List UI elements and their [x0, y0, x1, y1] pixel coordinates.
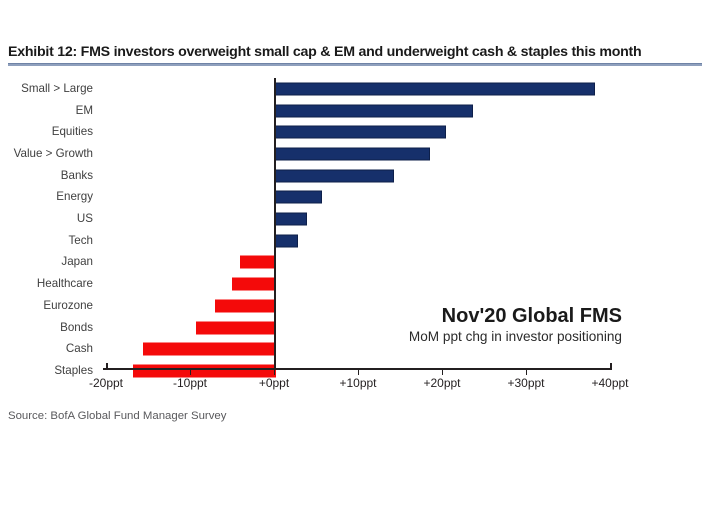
source-note: Source: BofA Global Fund Manager Survey	[8, 410, 226, 422]
bar	[240, 256, 276, 269]
bar-row: Small > Large	[0, 78, 710, 100]
x-axis-tick-label: +30ppt	[507, 376, 544, 390]
bar-row: Value > Growth	[0, 143, 710, 165]
chart-page: Exhibit 12: FMS investors overweight sma…	[0, 0, 710, 505]
bar	[274, 147, 430, 160]
x-axis-tick-label: +20ppt	[423, 376, 460, 390]
page-title: Exhibit 12: FMS investors overweight sma…	[8, 44, 702, 60]
x-axis-tick	[106, 363, 108, 370]
category-label: Tech	[69, 235, 94, 247]
x-axis-tick-label: -20ppt	[89, 376, 123, 390]
x-axis-tick	[274, 370, 275, 375]
bar-row: US	[0, 208, 710, 230]
category-label: Bonds	[60, 322, 93, 334]
category-label: Equities	[52, 126, 93, 138]
x-axis-line	[103, 368, 610, 370]
category-label: Eurozone	[43, 300, 93, 312]
bar-row: EM	[0, 100, 710, 122]
bar-row: Banks	[0, 165, 710, 187]
bar	[215, 299, 276, 312]
chart-annotation: Nov'20 Global FMS MoM ppt chg in investo…	[330, 305, 622, 345]
category-label: Energy	[56, 192, 93, 204]
bar	[232, 278, 276, 291]
category-label: Staples	[54, 365, 93, 377]
category-label: Japan	[61, 257, 93, 269]
category-label: Banks	[61, 170, 93, 182]
category-label: US	[77, 213, 93, 225]
category-label: Healthcare	[37, 278, 93, 290]
bar	[274, 191, 322, 204]
title-divider	[8, 63, 702, 66]
x-axis-tick-label: +10ppt	[339, 376, 376, 390]
x-axis-tick	[610, 363, 612, 370]
x-axis-tick-label: -10ppt	[173, 376, 207, 390]
bar	[274, 213, 307, 226]
bar-row: Japan	[0, 252, 710, 274]
bar	[274, 234, 298, 247]
bar-row: Healthcare	[0, 273, 710, 295]
title-block: Exhibit 12: FMS investors overweight sma…	[8, 44, 702, 66]
annotation-title: Nov'20 Global FMS	[330, 305, 622, 327]
category-label: EM	[76, 105, 93, 117]
zero-axis-line	[274, 78, 276, 370]
x-axis-tick	[358, 370, 359, 375]
x-axis-tick	[190, 370, 191, 375]
bar-row: Tech	[0, 230, 710, 252]
annotation-subtitle: MoM ppt chg in investor positioning	[330, 330, 622, 345]
bar	[274, 82, 595, 95]
bar	[143, 343, 276, 356]
x-axis-tick-label: +0ppt	[259, 376, 289, 390]
bar	[274, 104, 473, 117]
bar	[274, 169, 394, 182]
x-axis-tick	[526, 370, 527, 375]
x-axis-tick-label: +40ppt	[591, 376, 628, 390]
category-label: Value > Growth	[14, 148, 93, 160]
bar	[274, 126, 446, 139]
bar-row: Energy	[0, 187, 710, 209]
category-label: Cash	[66, 343, 93, 355]
category-label: Small > Large	[21, 83, 93, 95]
bar-row: Equities	[0, 121, 710, 143]
x-axis-tick	[442, 370, 443, 375]
bar	[196, 321, 276, 334]
